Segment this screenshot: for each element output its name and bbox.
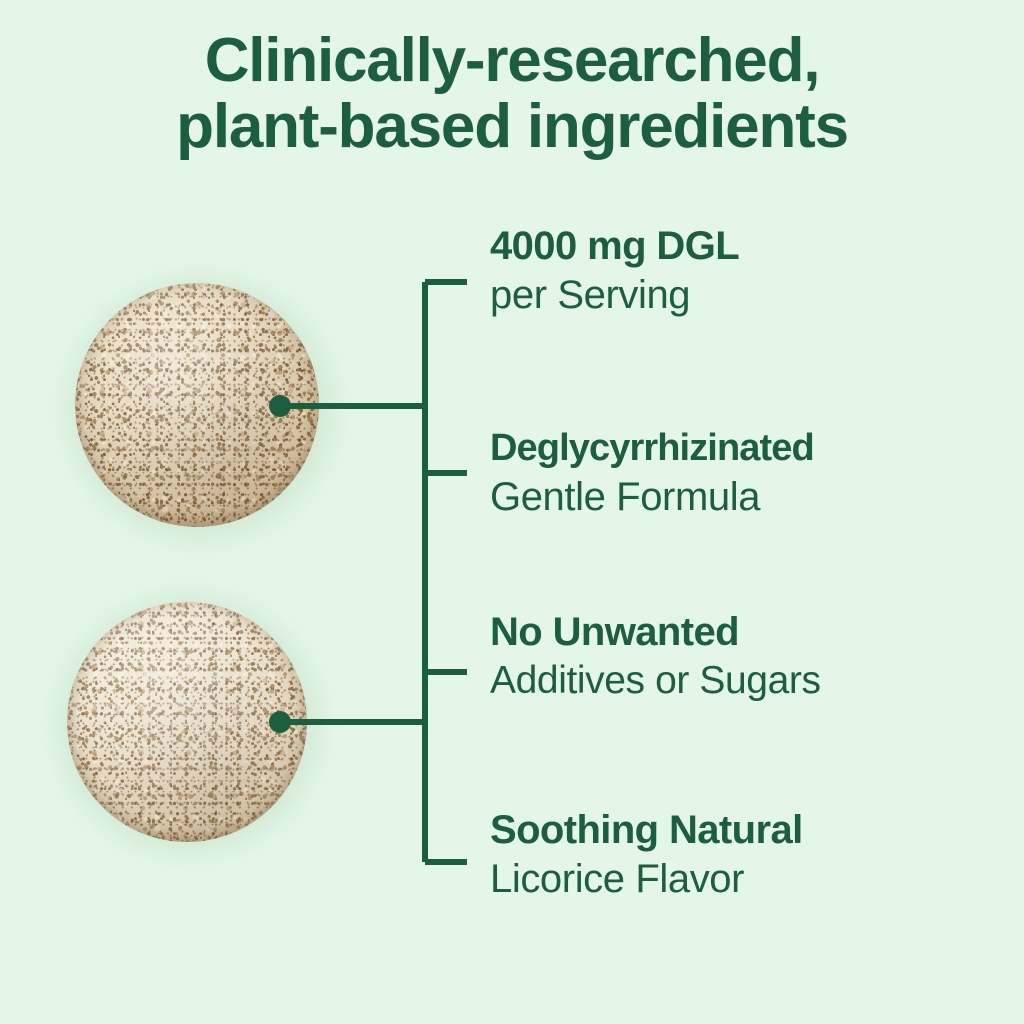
feature-subtitle: Licorice Flavor (490, 854, 1010, 904)
feature-title: Soothing Natural (490, 806, 1010, 854)
feature-item-no-additives: No Unwanted Additives or Sugars (490, 608, 1010, 706)
feature-item-dgl-dose: 4000 mg DGL per Serving (490, 222, 1010, 320)
feature-item-licorice-flavor: Soothing Natural Licorice Flavor (490, 806, 1010, 904)
feature-list: 4000 mg DGL per Serving Deglycyrrhizinat… (0, 0, 1024, 1024)
feature-title: Deglycyrrhizinated (490, 424, 1010, 472)
feature-item-deglycyrrhizinated: Deglycyrrhizinated Gentle Formula (490, 424, 1010, 522)
feature-title: 4000 mg DGL (490, 222, 1010, 270)
feature-subtitle: per Serving (490, 270, 1010, 320)
feature-subtitle: Gentle Formula (490, 472, 1010, 522)
feature-title: No Unwanted (490, 608, 1010, 656)
ingredients-infographic: Clinically-researched, plant-based ingre… (0, 0, 1024, 1024)
feature-subtitle: Additives or Sugars (490, 656, 1010, 706)
